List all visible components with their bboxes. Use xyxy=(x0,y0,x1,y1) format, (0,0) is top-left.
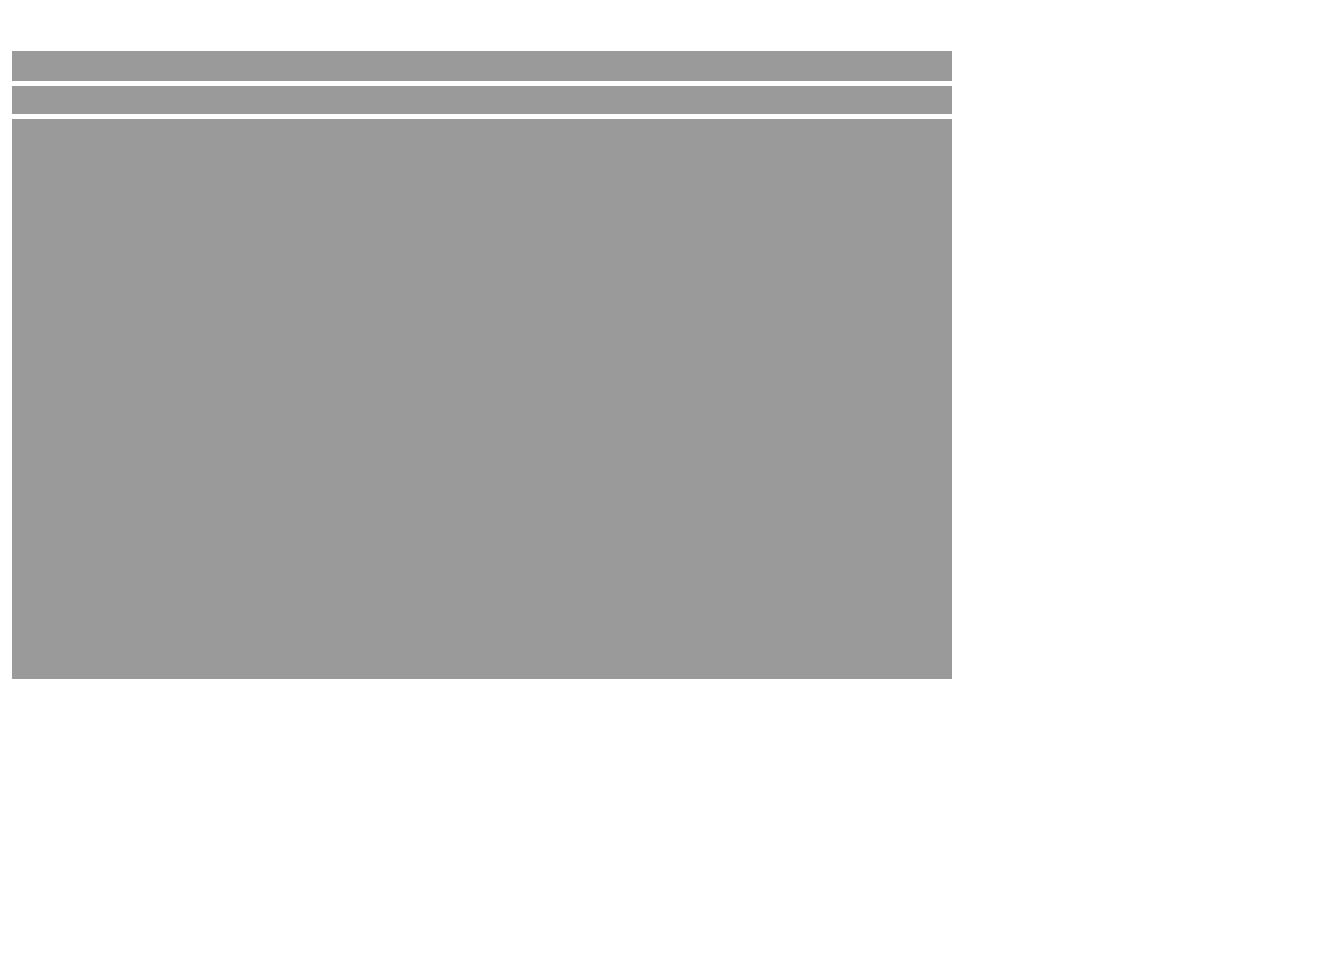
heatmap-grid xyxy=(12,119,952,679)
heatmap-figure xyxy=(0,0,1344,960)
x-axis-labels xyxy=(12,682,952,952)
annotation-bar-rearingcondition xyxy=(12,86,952,114)
colorbar xyxy=(966,118,993,528)
annotation-bar-tissue xyxy=(12,51,952,81)
